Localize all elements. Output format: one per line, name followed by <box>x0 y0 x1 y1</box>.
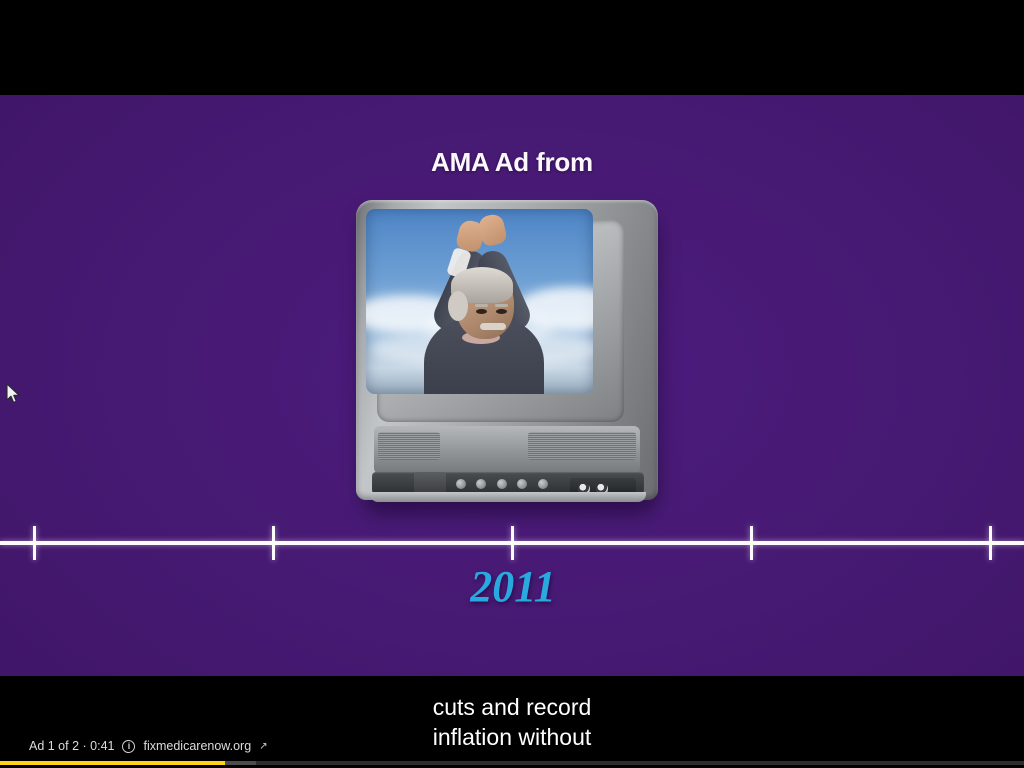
ad-title-overlay: AMA Ad from <box>0 147 1024 178</box>
hair-side <box>448 291 468 321</box>
tv-knob <box>456 479 466 489</box>
left-eye <box>476 309 487 314</box>
info-icon[interactable]: i <box>122 740 135 753</box>
timeline-tick <box>33 526 36 560</box>
progress-bar-track[interactable] <box>0 761 1024 765</box>
external-link-icon: ↗ <box>259 741 267 752</box>
crt-television <box>356 200 662 515</box>
man-figure <box>366 209 593 394</box>
advertiser-link[interactable]: fixmedicarenow.org <box>143 739 251 753</box>
timeline-tick <box>750 526 753 560</box>
right-eye <box>496 309 507 314</box>
mouse-cursor-icon <box>6 383 22 405</box>
tv-knob <box>497 479 507 489</box>
right-eyebrow <box>495 304 508 307</box>
caption-line-1: cuts and record <box>0 692 1024 722</box>
video-player-screen: AMA Ad from <box>0 0 1024 768</box>
tv-knob <box>476 479 486 489</box>
timeline-tick <box>989 526 992 560</box>
letterbox-bar-top <box>0 0 1024 95</box>
tv-button-row <box>456 476 566 488</box>
timeline-tick <box>272 526 275 560</box>
speaker-grille-left <box>378 432 440 460</box>
tv-knob <box>538 479 548 489</box>
timeline-year-label: 2011 <box>1 561 1024 612</box>
mustache <box>480 323 506 330</box>
tv-knob <box>517 479 527 489</box>
tv-control-door <box>414 472 446 494</box>
ad-counter-label: Ad 1 of 2 · 0:41 <box>29 739 114 753</box>
ad-video-area[interactable]: AMA Ad from <box>0 95 1024 676</box>
left-eyebrow <box>475 304 488 307</box>
ad-meta-row: Ad 1 of 2 · 0:41 i fixmedicarenow.org ↗ <box>29 739 268 753</box>
speaker-grille-right <box>528 432 636 460</box>
tv-base <box>370 492 646 502</box>
tv-screen <box>366 209 593 394</box>
timeline-tick <box>511 526 514 560</box>
progress-bar-fill <box>0 761 225 765</box>
